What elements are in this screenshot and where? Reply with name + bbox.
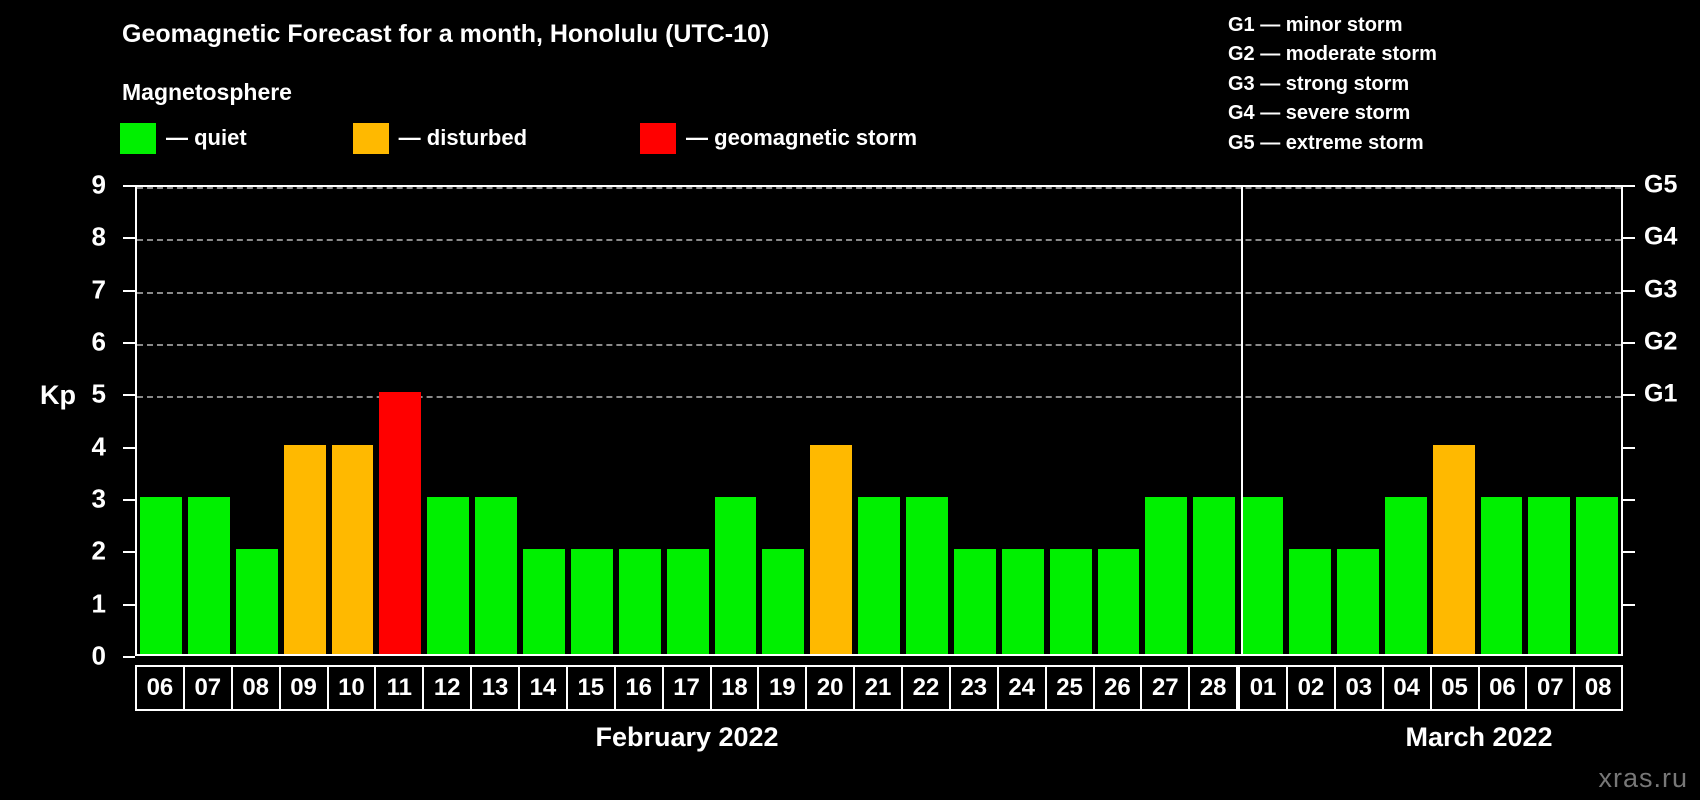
bar-slot[interactable] <box>568 187 616 654</box>
date-cell-march-02[interactable]: 02 <box>1286 665 1336 711</box>
date-cell-march-04[interactable]: 04 <box>1382 665 1432 711</box>
bar-slot[interactable] <box>616 187 664 654</box>
date-cell-february-11[interactable]: 11 <box>374 665 424 711</box>
date-cell-february-25[interactable]: 25 <box>1045 665 1095 711</box>
y-tick-label-6: 6 <box>66 327 106 358</box>
y-tick-mark-7 <box>123 290 135 292</box>
bar-march-01[interactable] <box>1241 497 1283 654</box>
bar-slot[interactable] <box>329 187 377 654</box>
date-cell-march-03[interactable]: 03 <box>1334 665 1384 711</box>
date-cell-february-23[interactable]: 23 <box>949 665 999 711</box>
bar-march-07[interactable] <box>1528 497 1570 654</box>
date-cell-february-22[interactable]: 22 <box>901 665 951 711</box>
bar-march-05[interactable] <box>1433 445 1475 654</box>
y-tick-label-3: 3 <box>66 484 106 515</box>
bar-slot[interactable] <box>1525 187 1573 654</box>
g-scale-line-g2: G2 — moderate storm <box>1228 40 1437 69</box>
date-cell-february-24[interactable]: 24 <box>997 665 1047 711</box>
bar-february-20[interactable] <box>810 445 852 654</box>
bar-slot[interactable] <box>520 187 568 654</box>
date-cell-february-17[interactable]: 17 <box>662 665 712 711</box>
date-cell-february-27[interactable]: 27 <box>1140 665 1190 711</box>
y-tick-label-7: 7 <box>66 274 106 305</box>
bar-february-19[interactable] <box>762 549 804 654</box>
g-tick-label-g3: G3 <box>1644 275 1677 304</box>
date-cell-february-15[interactable]: 15 <box>566 665 616 711</box>
y-tick-label-1: 1 <box>66 588 106 619</box>
date-axis: 0607080910111213141516171819202122232425… <box>135 665 1623 711</box>
y-tick-mark-0 <box>123 656 135 658</box>
y-tick-mark-5 <box>123 394 135 396</box>
bar-march-06[interactable] <box>1481 497 1523 654</box>
date-cell-february-12[interactable]: 12 <box>422 665 472 711</box>
legend-label-disturbed: — disturbed <box>399 125 527 151</box>
g-tick-label-g2: G2 <box>1644 328 1677 357</box>
y-tick-label-8: 8 <box>66 222 106 253</box>
month-caption-february: February 2022 <box>595 722 778 753</box>
y-tick-mark-9 <box>123 185 135 187</box>
y-tick-mark-2 <box>123 551 135 553</box>
bar-february-16[interactable] <box>619 549 661 654</box>
month-caption-march: March 2022 <box>1405 722 1552 753</box>
g-tick-mark-kp-6 <box>1623 342 1635 344</box>
bar-february-27[interactable] <box>1145 497 1187 654</box>
bar-slot[interactable] <box>903 187 951 654</box>
date-cell-february-09[interactable]: 09 <box>279 665 329 711</box>
bar-series <box>137 187 1621 654</box>
bar-slot[interactable] <box>1190 187 1238 654</box>
g-tick-mark-kp-5 <box>1623 394 1635 396</box>
date-cell-february-07[interactable]: 07 <box>183 665 233 711</box>
bar-february-15[interactable] <box>571 549 613 654</box>
bar-slot[interactable] <box>1286 187 1334 654</box>
bar-february-21[interactable] <box>858 497 900 654</box>
y-tick-mark-3 <box>123 499 135 501</box>
bar-february-23[interactable] <box>954 549 996 654</box>
month-divider <box>1241 187 1243 654</box>
date-cell-february-16[interactable]: 16 <box>614 665 664 711</box>
bar-march-08[interactable] <box>1576 497 1618 654</box>
bar-february-17[interactable] <box>667 549 709 654</box>
y-tick-label-5: 5 <box>66 379 106 410</box>
y-tick-label-0: 0 <box>66 641 106 672</box>
bar-slot[interactable] <box>1334 187 1382 654</box>
g-scale-line-g4: G4 — severe storm <box>1228 99 1437 128</box>
bar-february-06[interactable] <box>140 497 182 654</box>
date-cell-february-21[interactable]: 21 <box>853 665 903 711</box>
bar-february-11[interactable] <box>379 392 421 654</box>
date-cell-february-08[interactable]: 08 <box>231 665 281 711</box>
bar-slot[interactable] <box>281 187 329 654</box>
bar-slot[interactable] <box>185 187 233 654</box>
date-cell-march-06[interactable]: 06 <box>1478 665 1528 711</box>
bar-february-25[interactable] <box>1050 549 1092 654</box>
bar-slot[interactable] <box>472 187 520 654</box>
bar-slot[interactable] <box>807 187 855 654</box>
bar-slot[interactable] <box>951 187 999 654</box>
bar-slot[interactable] <box>712 187 760 654</box>
bar-february-14[interactable] <box>523 549 565 654</box>
g-tick-mark-kp-2 <box>1623 551 1635 553</box>
bar-february-07[interactable] <box>188 497 230 654</box>
bar-slot[interactable] <box>1382 187 1430 654</box>
date-cell-march-08[interactable]: 08 <box>1573 665 1623 711</box>
date-cell-february-26[interactable]: 26 <box>1093 665 1143 711</box>
y-tick-mark-4 <box>123 447 135 449</box>
g-tick-mark-kp-1 <box>1623 604 1635 606</box>
bar-slot[interactable] <box>376 187 424 654</box>
bar-slot[interactable] <box>1047 187 1095 654</box>
bar-february-26[interactable] <box>1098 549 1140 654</box>
legend-label-geomagnetic-storm: — geomagnetic storm <box>686 125 917 151</box>
date-cell-february-14[interactable]: 14 <box>518 665 568 711</box>
color-legend: — quiet— disturbed— geomagnetic storm <box>120 122 917 154</box>
bar-slot[interactable] <box>1430 187 1478 654</box>
g-tick-mark-kp-3 <box>1623 499 1635 501</box>
y-tick-mark-6 <box>123 342 135 344</box>
bar-slot[interactable] <box>1573 187 1621 654</box>
g-scale-line-g3: G3 — strong storm <box>1228 70 1437 99</box>
bar-slot[interactable] <box>1095 187 1143 654</box>
g-tick-label-g5: G5 <box>1644 171 1677 200</box>
bar-slot[interactable] <box>664 187 712 654</box>
page-title: Geomagnetic Forecast for a month, Honolu… <box>122 20 769 49</box>
bar-slot[interactable] <box>424 187 472 654</box>
date-cell-march-01[interactable]: 01 <box>1238 665 1288 711</box>
bar-february-08[interactable] <box>236 549 278 654</box>
g-tick-label-g4: G4 <box>1644 223 1677 252</box>
magnetosphere-label: Magnetosphere <box>122 79 292 106</box>
date-cell-february-18[interactable]: 18 <box>710 665 760 711</box>
bar-march-04[interactable] <box>1385 497 1427 654</box>
legend-entry-quiet: — quiet <box>120 122 247 154</box>
g-tick-mark-kp-9 <box>1623 185 1635 187</box>
date-cell-february-10[interactable]: 10 <box>327 665 377 711</box>
bar-slot[interactable] <box>1238 187 1286 654</box>
bar-february-09[interactable] <box>284 445 326 654</box>
g-scale-line-g1: G1 — minor storm <box>1228 11 1437 40</box>
bar-slot[interactable] <box>1478 187 1526 654</box>
y-tick-label-2: 2 <box>66 536 106 567</box>
bar-march-02[interactable] <box>1289 549 1331 654</box>
date-cell-february-28[interactable]: 28 <box>1188 665 1238 711</box>
g-tick-label-g1: G1 <box>1644 380 1677 409</box>
plot-area <box>135 185 1623 656</box>
bar-slot[interactable] <box>233 187 281 654</box>
date-cell-february-06[interactable]: 06 <box>135 665 185 711</box>
legend-entry-disturbed: — disturbed <box>353 122 527 154</box>
g-scale-line-g5: G5 — extreme storm <box>1228 129 1437 158</box>
legend-entry-geomagnetic-storm: — geomagnetic storm <box>640 122 917 154</box>
date-cell-february-19[interactable]: 19 <box>757 665 807 711</box>
date-cell-march-07[interactable]: 07 <box>1525 665 1575 711</box>
g-tick-mark-kp-4 <box>1623 447 1635 449</box>
y-tick-label-4: 4 <box>66 431 106 462</box>
g-tick-mark-kp-8 <box>1623 237 1635 239</box>
legend-swatch-geomagnetic-storm <box>640 123 676 154</box>
legend-label-quiet: — quiet <box>166 125 247 151</box>
y-tick-mark-8 <box>123 237 135 239</box>
y-tick-label-9: 9 <box>66 170 106 201</box>
bar-february-18[interactable] <box>715 497 757 654</box>
date-cell-february-20[interactable]: 20 <box>805 665 855 711</box>
date-cell-february-13[interactable]: 13 <box>470 665 520 711</box>
legend-swatch-quiet <box>120 123 156 154</box>
bar-march-03[interactable] <box>1337 549 1379 654</box>
bar-february-22[interactable] <box>906 497 948 654</box>
y-tick-mark-1 <box>123 604 135 606</box>
g-scale-legend: G1 — minor stormG2 — moderate stormG3 — … <box>1228 11 1437 158</box>
bar-february-13[interactable] <box>475 497 517 654</box>
bar-february-10[interactable] <box>332 445 374 654</box>
date-cell-march-05[interactable]: 05 <box>1430 665 1480 711</box>
legend-swatch-disturbed <box>353 123 389 154</box>
bar-february-12[interactable] <box>427 497 469 654</box>
bar-slot[interactable] <box>137 187 185 654</box>
bar-slot[interactable] <box>1142 187 1190 654</box>
bar-slot[interactable] <box>855 187 903 654</box>
bar-slot[interactable] <box>999 187 1047 654</box>
bar-february-28[interactable] <box>1193 497 1235 654</box>
watermark: xras.ru <box>1598 763 1688 794</box>
bar-slot[interactable] <box>759 187 807 654</box>
bar-february-24[interactable] <box>1002 549 1044 654</box>
g-tick-mark-kp-7 <box>1623 290 1635 292</box>
